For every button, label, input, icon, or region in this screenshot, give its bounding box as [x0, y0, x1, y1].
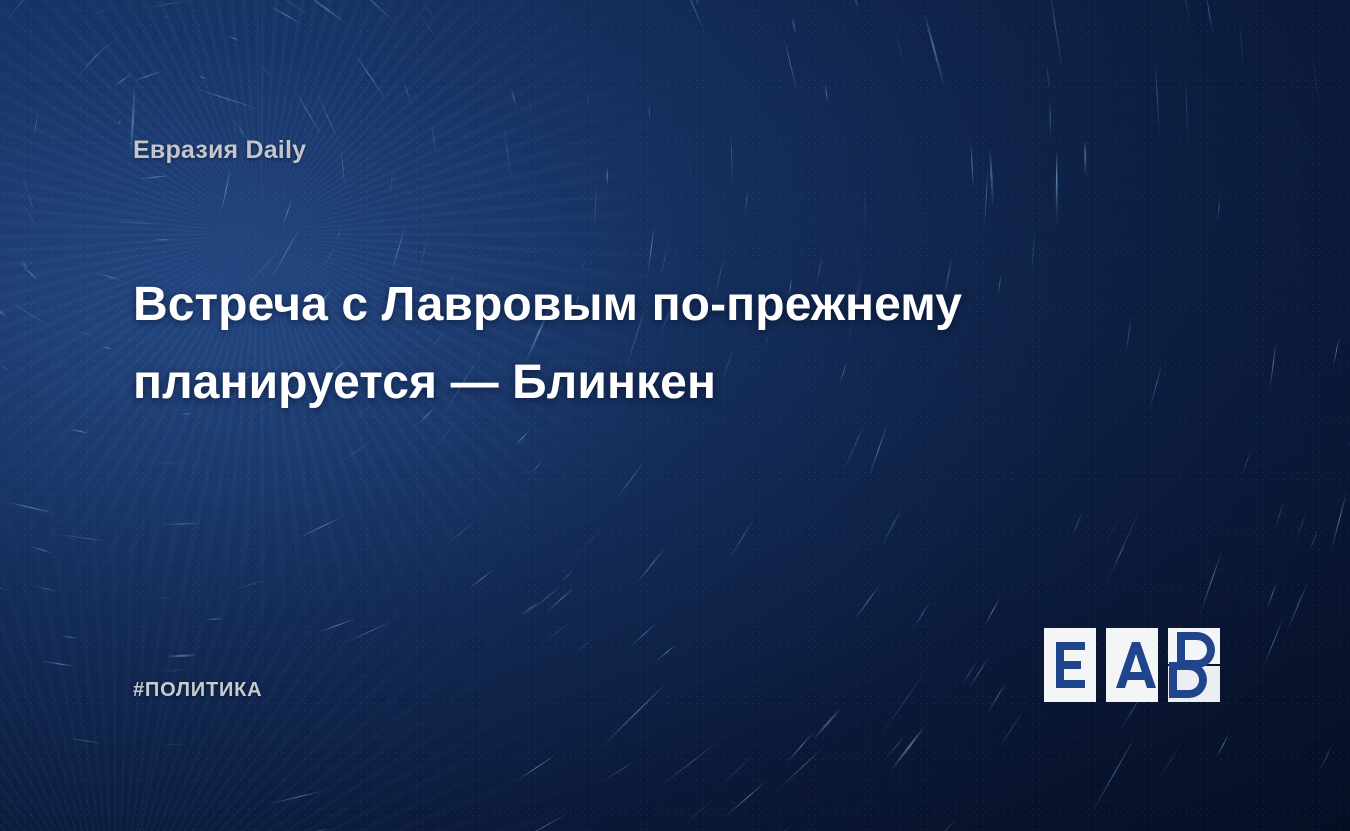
- headline: Встреча с Лавровым по-прежнему планирует…: [133, 266, 1093, 422]
- card-content: Евразия Daily Встреча с Лавровым по-преж…: [0, 0, 1350, 831]
- news-share-card: Евразия Daily Встреча с Лавровым по-преж…: [0, 0, 1350, 831]
- category-tag[interactable]: #ПОЛИТИКА: [133, 679, 262, 702]
- ead-logo[interactable]: [1044, 628, 1220, 702]
- brand-wordmark: Евразия Daily: [133, 136, 306, 165]
